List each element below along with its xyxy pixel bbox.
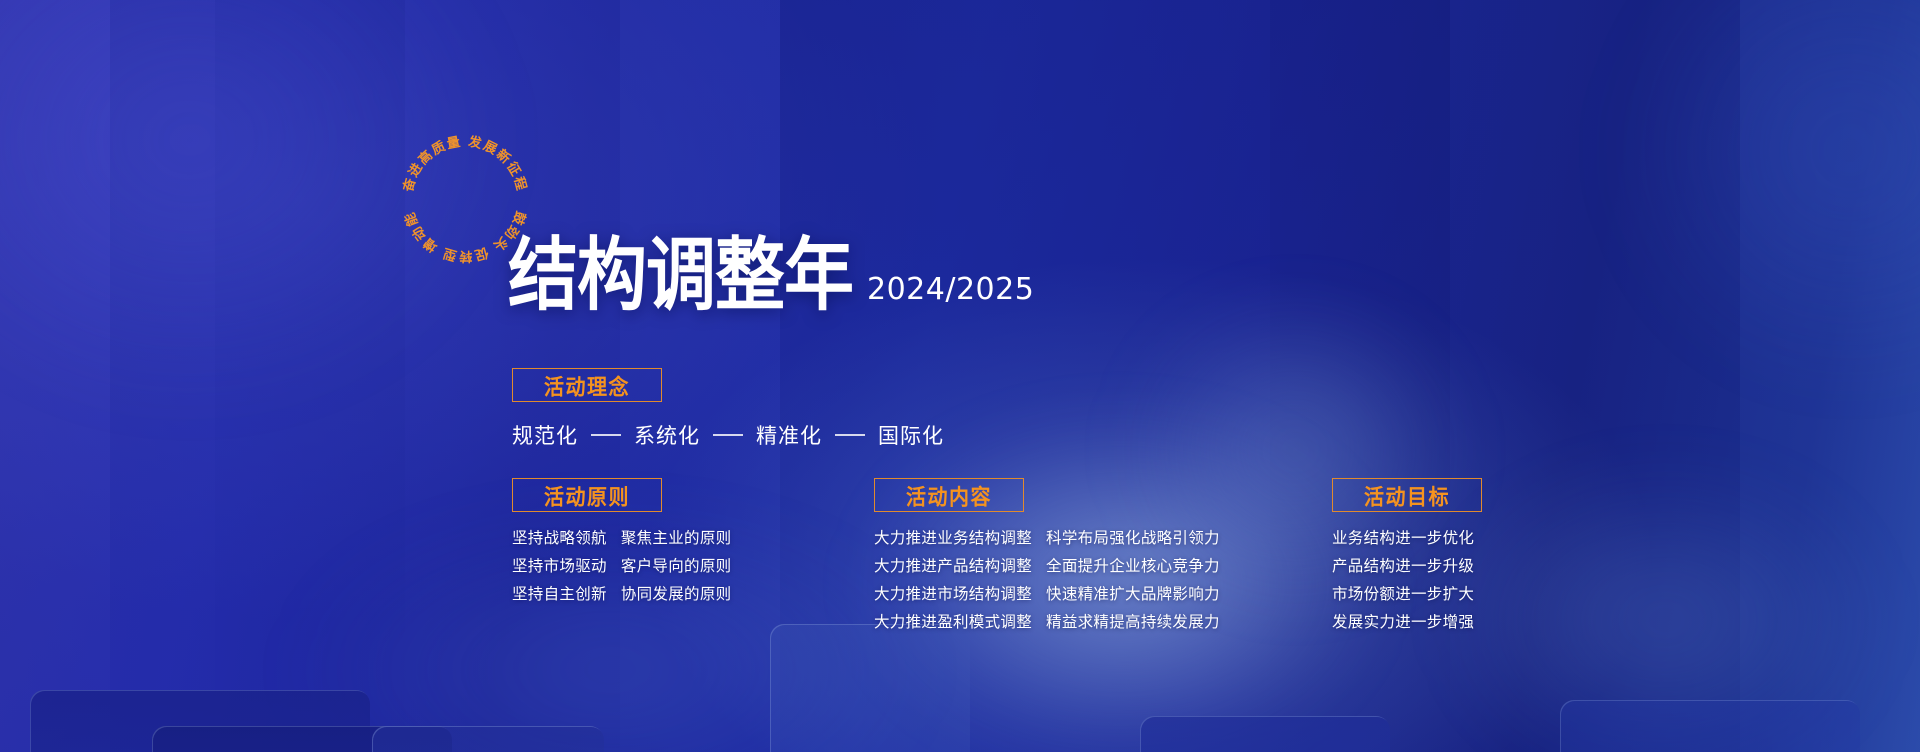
badge-goals-label: 活动目标 <box>1364 479 1450 510</box>
list-item: 发展实力进一步增强 <box>1332 608 1482 636</box>
row-primary: 市场份额进一步扩大 <box>1332 580 1474 608</box>
list-item: 坚持市场驱动 客户导向的原则 <box>512 552 731 580</box>
row-primary: 大力推进产品结构调整 <box>874 552 1032 580</box>
concept-line: 规范化 系统化 精准化 国际化 <box>512 420 944 450</box>
seal-text-top: 奋进高质量 发展新征程 <box>399 133 530 195</box>
contents-rows: 大力推进业务结构调整 科学布局强化战略引领力 大力推进产品结构调整 全面提升企业… <box>874 524 1220 636</box>
year-range: 2024/2025 <box>867 272 1034 307</box>
badge-contents-label: 活动内容 <box>906 479 992 510</box>
list-item: 产品结构进一步升级 <box>1332 552 1482 580</box>
list-item: 大力推进业务结构调整 科学布局强化战略引领力 <box>874 524 1220 552</box>
row-secondary: 快速精准扩大品牌影响力 <box>1046 580 1220 608</box>
concept-item-0: 规范化 <box>512 420 578 450</box>
poster-content: 奋进高质量 发展新征程 鼓劲头 促转型 增动能 结构调整年 2024/2025 … <box>0 0 1920 752</box>
row-secondary: 客户导向的原则 <box>621 552 732 580</box>
row-primary: 产品结构进一步升级 <box>1332 552 1474 580</box>
row-primary: 发展实力进一步增强 <box>1332 608 1474 636</box>
row-primary: 大力推进盈利模式调整 <box>874 608 1032 636</box>
page-title: 结构调整年 <box>508 238 853 315</box>
concept-item-2: 精准化 <box>756 420 822 450</box>
list-item: 大力推进产品结构调整 全面提升企业核心竞争力 <box>874 552 1220 580</box>
row-primary: 坚持市场驱动 <box>512 552 607 580</box>
column-contents: 活动内容 大力推进业务结构调整 科学布局强化战略引领力 大力推进产品结构调整 全… <box>874 478 1220 636</box>
badge-contents[interactable]: 活动内容 <box>874 478 1024 512</box>
row-primary: 业务结构进一步优化 <box>1332 524 1474 552</box>
column-goals: 活动目标 业务结构进一步优化 产品结构进一步升级 市场份额进一步扩大 发展实力进… <box>1332 478 1482 636</box>
seal-text-top-path: 奋进高质量 发展新征程 <box>399 133 530 195</box>
concept-dash <box>591 434 621 436</box>
principles-rows: 坚持战略领航 聚焦主业的原则 坚持市场驱动 客户导向的原则 坚持自主创新 协同发… <box>512 524 731 608</box>
row-primary: 大力推进市场结构调整 <box>874 580 1032 608</box>
poster-canvas: 奋进高质量 发展新征程 鼓劲头 促转型 增动能 结构调整年 2024/2025 … <box>0 0 1920 752</box>
column-principles: 活动原则 坚持战略领航 聚焦主业的原则 坚持市场驱动 客户导向的原则 坚持自主创… <box>512 478 731 608</box>
row-primary: 坚持自主创新 <box>512 580 607 608</box>
list-item: 市场份额进一步扩大 <box>1332 580 1482 608</box>
row-secondary: 精益求精提高持续发展力 <box>1046 608 1220 636</box>
title-row: 结构调整年 2024/2025 <box>508 247 1034 314</box>
list-item: 业务结构进一步优化 <box>1332 524 1482 552</box>
list-item: 坚持战略领航 聚焦主业的原则 <box>512 524 731 552</box>
concept-item-3: 国际化 <box>878 420 944 450</box>
row-secondary: 聚焦主业的原则 <box>621 524 732 552</box>
row-primary: 大力推进业务结构调整 <box>874 524 1032 552</box>
badge-principles-label: 活动原则 <box>544 479 630 510</box>
row-secondary: 科学布局强化战略引领力 <box>1046 524 1220 552</box>
concept-dash <box>835 434 865 436</box>
row-secondary: 协同发展的原则 <box>621 580 732 608</box>
row-primary: 坚持战略领航 <box>512 524 607 552</box>
goals-rows: 业务结构进一步优化 产品结构进一步升级 市场份额进一步扩大 发展实力进一步增强 <box>1332 524 1482 636</box>
row-secondary: 全面提升企业核心竞争力 <box>1046 552 1220 580</box>
concept-dash <box>713 434 743 436</box>
badge-goals[interactable]: 活动目标 <box>1332 478 1482 512</box>
list-item: 大力推进市场结构调整 快速精准扩大品牌影响力 <box>874 580 1220 608</box>
badge-concept-label: 活动理念 <box>544 369 630 400</box>
list-item: 坚持自主创新 协同发展的原则 <box>512 580 731 608</box>
badge-principles[interactable]: 活动原则 <box>512 478 662 512</box>
concept-item-1: 系统化 <box>634 420 700 450</box>
list-item: 大力推进盈利模式调整 精益求精提高持续发展力 <box>874 608 1220 636</box>
badge-concept[interactable]: 活动理念 <box>512 368 662 402</box>
